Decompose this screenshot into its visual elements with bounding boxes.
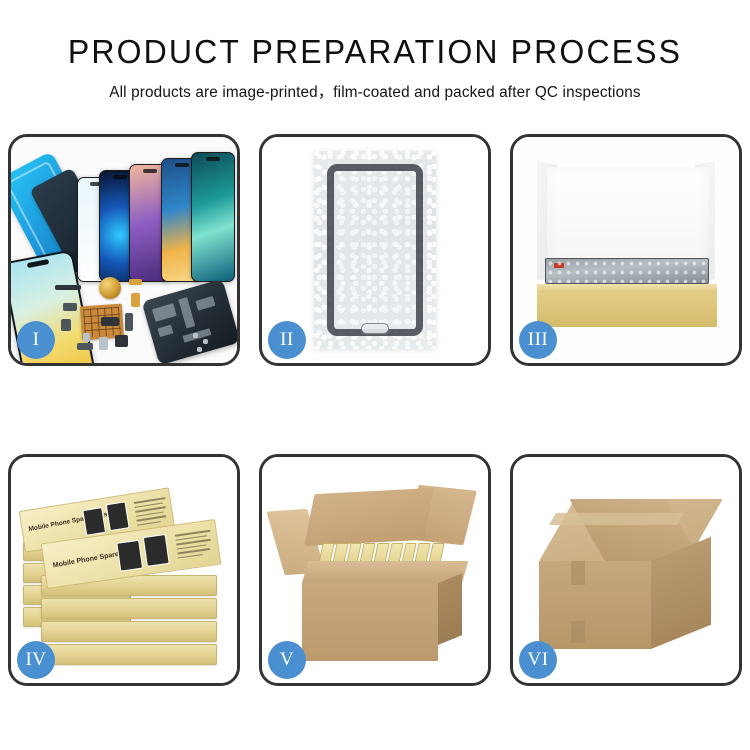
- screw-icon: [193, 333, 198, 338]
- sealed-carton-front-icon: [539, 561, 651, 649]
- spare-part-icon: [101, 317, 119, 326]
- screw-icon: [197, 347, 202, 352]
- label-mark-icon: [554, 263, 564, 268]
- box-print-phone-icon: [143, 534, 170, 567]
- spare-part-icon: [125, 313, 133, 331]
- notch-icon: [113, 175, 127, 179]
- step-panel-1: I: [8, 134, 240, 366]
- box-print-phone-icon: [82, 507, 106, 536]
- kraft-box-front-icon: [537, 293, 717, 327]
- step-badge-1: I: [17, 321, 55, 359]
- product-preparation-infographic: PRODUCT PREPARATION PROCESS All products…: [0, 0, 750, 750]
- step-badge-2: II: [268, 321, 306, 359]
- page-subtitle: All products are image-printed，film-coat…: [0, 80, 750, 102]
- box-print-spec-lines: [175, 530, 214, 562]
- spare-part-icon: [63, 303, 77, 311]
- phone-motherboard-icon: [142, 279, 237, 363]
- notch-icon: [175, 163, 189, 167]
- wrapped-phone-screen-icon: [327, 164, 423, 336]
- spare-part-icon: [61, 319, 71, 331]
- box-print-phone-icon: [116, 540, 143, 572]
- spare-part-icon: [55, 285, 81, 290]
- packing-tape-icon: [549, 513, 684, 525]
- box-print-phone-icon: [106, 501, 130, 531]
- tape-patch-icon: [571, 621, 585, 643]
- step-panel-4: Mobile Phone Spare Parts Mobile Phone Sp…: [8, 454, 240, 686]
- step-badge-3: III: [519, 321, 557, 359]
- spare-part-icon: [131, 293, 140, 307]
- step-badge-4: IV: [17, 641, 55, 679]
- screw-icon: [203, 339, 208, 344]
- phone-display-5-icon: [191, 152, 235, 282]
- carton-flap-back-icon: [304, 488, 434, 546]
- step-panel-6: VI: [510, 454, 742, 686]
- step-badge-5: V: [268, 641, 306, 679]
- phone-display-fan: [77, 147, 237, 282]
- kraft-box-edge: [41, 644, 217, 665]
- notch-icon: [143, 169, 157, 173]
- kraft-box-edge: [41, 598, 217, 619]
- carton-front-panel-icon: [302, 583, 438, 661]
- spare-part-icon: [99, 337, 108, 350]
- carton-side-panel-icon: [438, 573, 462, 645]
- kraft-box-stack: Mobile Phone Spare Parts Mobile Phone Sp…: [19, 479, 233, 669]
- step-panel-2: II: [259, 134, 491, 366]
- vibration-motor-part-icon: [99, 277, 121, 299]
- process-steps-grid: I II III: [8, 134, 742, 686]
- step-badge-6: VI: [519, 641, 557, 679]
- spare-part-icon: [83, 333, 90, 342]
- kraft-box-edge: [41, 621, 217, 642]
- kraft-box-lip-icon: [537, 284, 717, 293]
- tape-patch-icon: [571, 561, 585, 585]
- page-title: PRODUCT PREPARATION PROCESS: [11, 34, 739, 70]
- spare-part-icon: [129, 279, 142, 285]
- wrapped-screen-in-box-icon: [545, 258, 709, 284]
- box-print-spec-lines: [134, 497, 170, 529]
- notch-icon: [206, 157, 220, 161]
- header: PRODUCT PREPARATION PROCESS All products…: [0, 0, 750, 102]
- step-panel-3: III: [510, 134, 742, 366]
- spare-part-icon: [77, 343, 93, 350]
- spare-part-icon: [115, 335, 128, 347]
- step-panel-5: V: [259, 454, 491, 686]
